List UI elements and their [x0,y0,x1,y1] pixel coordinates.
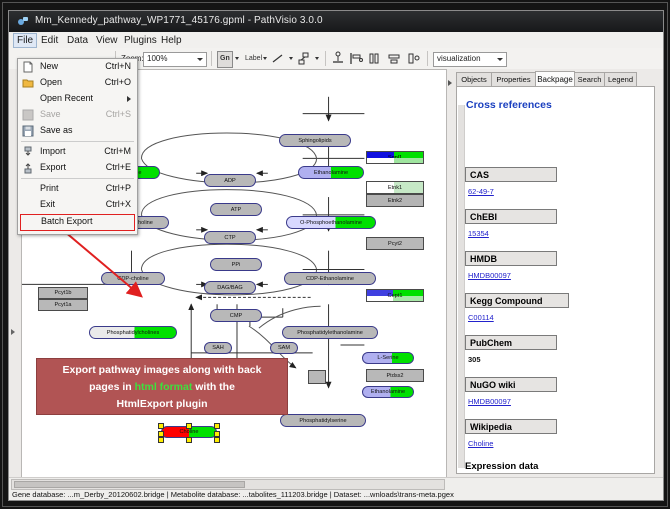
visualization-value: visualization [437,54,481,63]
xref-db-chebi: ChEBI [465,209,557,224]
line-tool-icon[interactable] [271,51,285,66]
node-sam[interactable]: SAM [270,342,298,354]
same-width-icon[interactable] [387,51,401,66]
menu-bar[interactable]: File Edit Data View Plugins Help [9,32,663,49]
pathvisio-icon [17,15,29,27]
menu-item-new[interactable]: New Ctrl+N [18,59,137,75]
node-l-serine[interactable]: L-Serine [362,352,414,364]
xref-db-cas: CAS [465,167,557,182]
node-dag-bag[interactable]: DAG/BAG [204,281,256,294]
align-top-icon[interactable] [331,51,345,66]
annotation-callout: Export pathway images along with back pa… [36,358,288,415]
resize-handle-n[interactable] [186,423,192,429]
datanode-tool[interactable]: Gn [217,51,233,68]
save-as-icon [22,125,34,137]
node-ethanolamine[interactable]: Ethanolamine [298,166,364,179]
callout-line-3: HtmlExport plugin [37,396,287,413]
node-etnk1[interactable]: Etnk1 [366,181,424,194]
node-cept1[interactable]: Cept1 [366,289,424,302]
menu-help[interactable]: Help [157,34,186,47]
open-folder-icon [22,77,34,89]
xref-value-chebi[interactable]: 15354 [468,229,489,238]
node-cdp-choline[interactable]: CDP-choline [101,272,165,285]
expression-data-heading: Expression data [465,461,538,472]
xref-value-nugo[interactable]: HMDB00097 [468,397,511,406]
chevron-down-icon [197,58,203,61]
menu-item-print[interactable]: Print Ctrl+P [18,181,137,197]
callout-line-2: pages in html format with the [37,379,287,396]
menu-file[interactable]: File [13,33,37,48]
menu-item-open[interactable]: Open Ctrl+O [18,75,137,91]
menu-edit[interactable]: Edit [37,34,62,47]
chevron-right-icon [127,96,131,102]
backpage-scrollbar[interactable] [458,105,465,468]
label-dropdown-icon[interactable] [263,57,267,60]
callout-line-2b: with the [192,381,235,393]
node-etnk2[interactable]: Etnk2 [366,194,424,207]
tab-objects[interactable]: Objects [456,72,492,87]
node-ptdss1[interactable] [308,370,326,384]
menu-separator [21,178,134,179]
menu-item-exit[interactable]: Exit Ctrl+X [18,197,137,213]
xref-value-kegg[interactable]: C00114 [468,313,494,322]
node-cmp[interactable]: CMP [210,309,262,322]
datanode-dropdown-icon[interactable] [235,57,239,60]
node-phosphatidylcholines[interactable]: Phosphatidylcholines [89,326,177,339]
menu-item-open-recent[interactable]: Open Recent [18,91,137,107]
node-sah[interactable]: SAH [204,342,232,354]
expand-strip-icon[interactable] [11,329,15,335]
menu-item-batch-export[interactable]: Batch Export [20,214,135,231]
xref-db-hmdb: HMDB [465,251,557,266]
menu-item-save-as[interactable]: Save as [18,123,137,139]
dock-tabs[interactable]: Objects Properties Backpage Search Legen… [456,71,663,86]
node-ptdss2[interactable]: Ptdss2 [366,369,424,382]
new-file-icon [22,61,34,73]
node-pcyt1a[interactable]: Pcyt1a [38,299,88,311]
resize-handle-sw[interactable] [158,437,164,443]
callout-line-2a: pages in [89,381,135,393]
node-ppi[interactable]: PPi [210,258,262,271]
save-disk-icon [22,109,34,121]
interaction-tool-icon[interactable] [297,51,311,66]
node-sphingolipids[interactable]: Sphingolipids [279,134,351,147]
cross-references-heading: Cross references [466,99,552,111]
line-dropdown-icon[interactable] [289,57,293,60]
right-dock: Objects Properties Backpage Search Legen… [447,69,663,478]
node-phosphatidylethanolamine[interactable]: Phosphatidylethanolamine [282,326,378,339]
xref-value-cas[interactable]: 62-49-7 [468,187,494,196]
xref-value-pubchem: 305 [468,355,481,364]
node-ethanolamine-bottom[interactable]: Ethanolamine [362,386,414,398]
interaction-dropdown-icon[interactable] [315,57,319,60]
distribute-horizontal-icon[interactable] [367,51,381,66]
label-tool[interactable]: Label [245,55,262,62]
node-atp[interactable]: ATP [210,203,262,216]
align-left-icon[interactable] [349,51,363,66]
menu-item-import[interactable]: Import Ctrl+M [18,144,137,160]
zoom-value: 100% [147,54,167,63]
dock-expand-icon[interactable] [448,80,452,86]
menu-separator [21,141,134,142]
zoom-combo[interactable]: 100% [143,52,207,67]
xref-db-nugo: NuGO wiki [465,377,557,392]
node-phosphatidylserine[interactable]: Phosphatidylserine [280,414,366,427]
node-adp[interactable]: ADP [204,174,256,187]
menu-plugins[interactable]: Plugins [120,34,161,47]
window-title: Mm_Kennedy_pathway_WP1771_45176.gpml - P… [35,15,323,26]
visualization-combo[interactable]: visualization [433,52,507,67]
node-cdp-ethanolamine[interactable]: CDP-Ethanolamine [284,272,376,285]
chevron-down-icon [497,58,503,61]
xref-db-pubchem: PubChem [465,335,557,350]
pathvisio-window: Mm_Kennedy_pathway_WP1771_45176.gpml - P… [8,10,664,501]
resize-handle-nw[interactable] [158,423,164,429]
export-icon [22,162,34,174]
callout-line-1: Export pathway images along with back [37,362,287,379]
import-icon [22,146,34,158]
menu-data[interactable]: Data [63,34,92,47]
menu-item-save: Save Ctrl+S [18,107,137,123]
file-menu-popup[interactable]: New Ctrl+N Open Ctrl+O Open Recent Save … [17,58,138,235]
screenshot-root: Mm_Kennedy_pathway_WP1771_45176.gpml - P… [0,0,670,509]
tab-search[interactable]: Search [574,72,605,87]
title-bar: Mm_Kennedy_pathway_WP1771_45176.gpml - P… [9,11,663,33]
backpage-panel: Cross references CAS 62-49-7 ChEBI 15354… [456,86,655,474]
tab-properties[interactable]: Properties [491,72,536,87]
same-height-icon[interactable] [407,51,421,66]
status-bar: Gene database: ...m_Derby_20120602.bridg… [9,477,663,500]
tab-legend[interactable]: Legend [604,72,637,87]
node-pcyt2[interactable]: Pcyt2 [366,237,424,250]
resize-handle-se[interactable] [214,437,220,443]
node-o-phosphoethanolamine[interactable]: O-Phosphoethanolamine [286,216,376,229]
node-pcyt1b[interactable]: Pcyt1b [38,287,88,299]
xref-value-hmdb[interactable]: HMDB00097 [468,271,511,280]
menu-view[interactable]: View [92,34,122,47]
xref-db-kegg: Kegg Compound [465,293,569,308]
horizontal-scrollbar[interactable] [11,479,445,490]
callout-highlight: html format [135,381,193,393]
scrollbar-thumb[interactable] [14,481,245,488]
resize-handle-ne[interactable] [214,423,220,429]
menu-item-export[interactable]: Export Ctrl+E [18,160,137,176]
status-text: Gene database: ...m_Derby_20120602.bridg… [12,490,454,499]
xref-db-wikipedia: Wikipedia [465,419,557,434]
resize-handle-s[interactable] [186,437,192,443]
node-ctp[interactable]: CTP [204,231,256,244]
node-sgpl1[interactable]: Sgpl1 [366,151,424,164]
xref-value-wikipedia[interactable]: Choline [468,439,493,448]
